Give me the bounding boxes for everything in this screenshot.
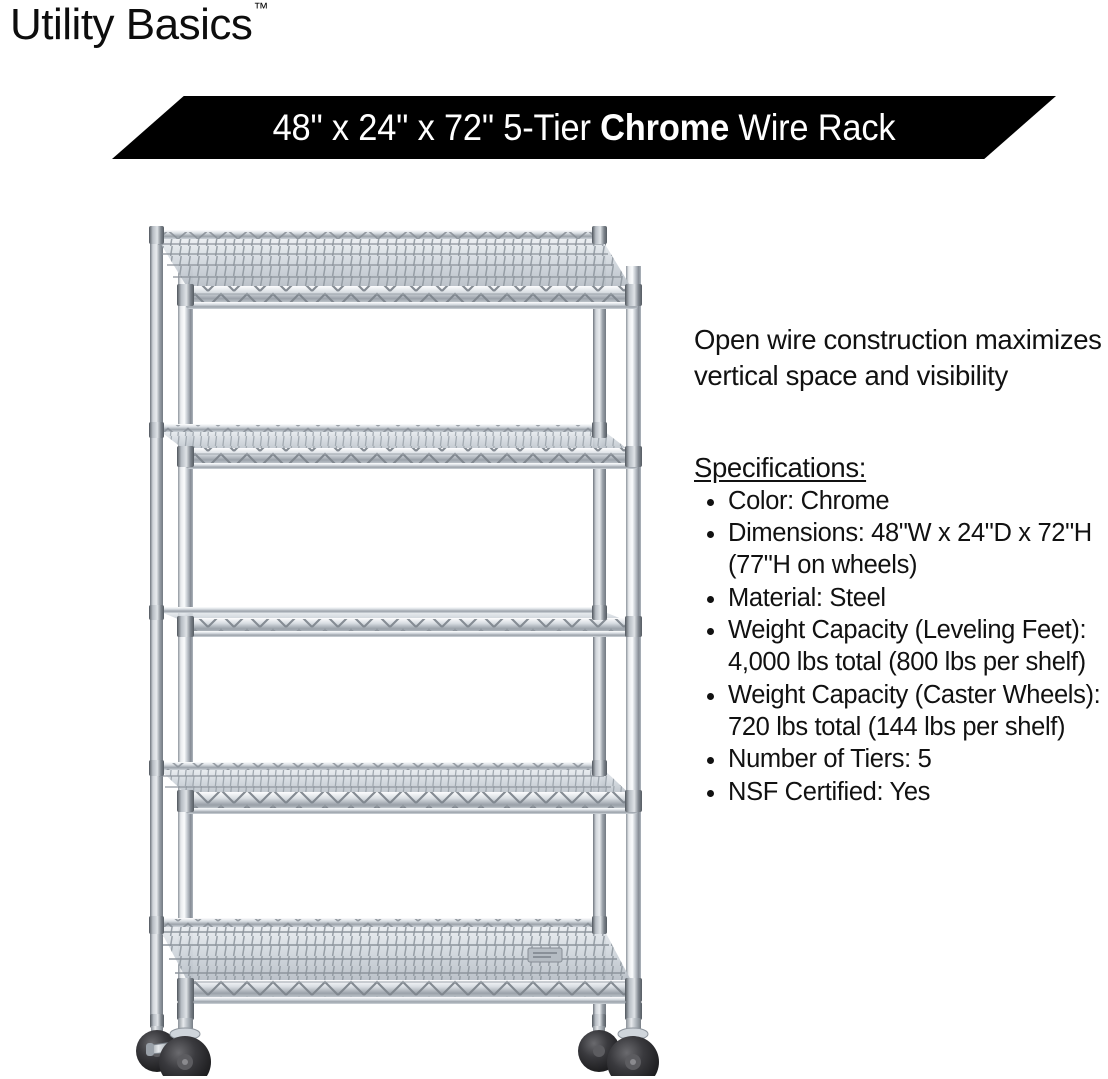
brand-name: Utility Basics [10,0,252,49]
banner-title-suffix: Wire Rack [729,107,895,149]
specifications-heading: Specifications: [694,452,866,484]
product-image [78,196,698,1076]
shelf-tier-1 [149,226,642,309]
banner-title-emphasis: Chrome [600,107,729,149]
list-item: Material: Steel [728,583,1106,615]
trademark-symbol: ™ [253,0,268,17]
banner-title-prefix: 48" x 24" x 72" 5-Tier [273,107,601,149]
shelf-tier-2 [149,422,642,469]
brand-logo: Utility Basics™ [10,2,267,48]
banner-title-text: 48" x 24" x 72" 5-Tier Chrome Wire Rack [145,96,1023,159]
list-item: Number of Tiers: 5 [728,744,1106,776]
list-item: Dimensions: 48"W x 24"D x 72"H (77"H on … [728,518,1106,581]
shelf-tier-3 [149,605,642,637]
shelf-label-tag [528,948,562,962]
shelf-tier-5 [149,916,642,1004]
product-copy-column: Open wire construction maximizes vertica… [694,322,1106,810]
feature-headline: Open wire construction maximizes vertica… [694,322,1106,394]
list-item: Color: Chrome [728,486,1106,518]
shelf-tier-4 [149,760,642,814]
front-posts [178,266,641,1032]
list-item: NSF Certified: Yes [728,777,1106,809]
wire-rack-illustration [78,196,698,1076]
list-item: Weight Capacity (Caster Wheels): 720 lbs… [728,680,1106,743]
product-title-banner: 48" x 24" x 72" 5-Tier Chrome Wire Rack [112,96,1056,159]
list-item: Weight Capacity (Leveling Feet): 4,000 l… [728,615,1106,678]
specifications-list: Color: Chrome Dimensions: 48"W x 24"D x … [694,486,1106,809]
